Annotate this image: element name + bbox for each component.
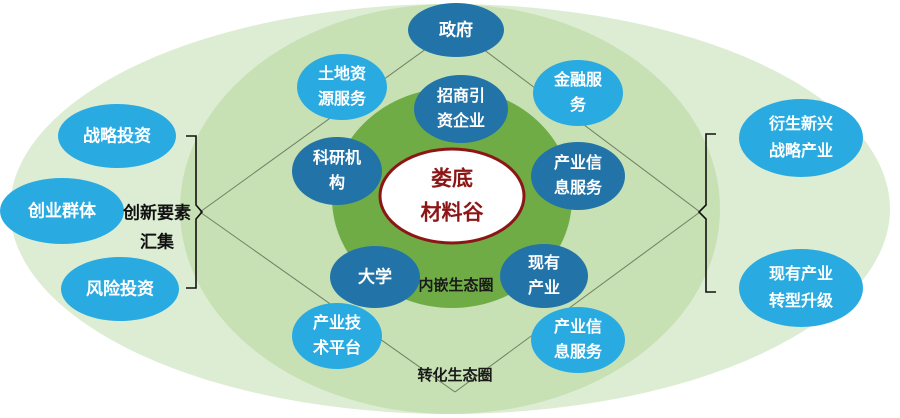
node-land-resource-label-2: 源服务 bbox=[318, 89, 367, 108]
node-existing-industry-ellipse bbox=[500, 244, 588, 308]
node-university[interactable]: 大学 bbox=[330, 246, 420, 308]
node-government-label: 政府 bbox=[439, 19, 473, 39]
core-ellipse bbox=[380, 149, 524, 243]
transform-ring-label: 转化生态圈 bbox=[417, 366, 492, 384]
node-industry-upgrade-label-1: 现有产业 bbox=[769, 264, 833, 283]
node-venture-capital-label: 风险投资 bbox=[86, 278, 154, 298]
core-node[interactable]: 娄底 材料谷 bbox=[380, 149, 524, 243]
node-government[interactable]: 政府 bbox=[408, 3, 504, 57]
core-label-line1: 娄底 bbox=[431, 167, 473, 191]
node-university-label: 大学 bbox=[358, 266, 392, 286]
node-investment-enterprise-ellipse bbox=[414, 75, 508, 143]
node-industry-info-bottom-label-1: 产业信 bbox=[554, 317, 602, 336]
node-financial-service-label-1: 金融服 bbox=[553, 70, 603, 89]
node-derived-strategic-industry-label-1: 衍生新兴 bbox=[768, 114, 833, 133]
node-industry-info-bottom-ellipse bbox=[531, 307, 625, 373]
node-derived-strategic-industry-label-2: 战略产业 bbox=[769, 141, 833, 160]
node-tech-platform-ellipse bbox=[292, 303, 382, 369]
node-venture-capital[interactable]: 风险投资 bbox=[61, 257, 179, 321]
node-research-institute-label-2: 构 bbox=[329, 173, 345, 192]
node-entrepreneur-group-label: 创业群体 bbox=[27, 200, 97, 220]
node-derived-strategic-industry[interactable]: 衍生新兴 战略产业 bbox=[739, 99, 863, 177]
node-financial-service[interactable]: 金融服 务 bbox=[533, 60, 623, 126]
node-investment-enterprise[interactable]: 招商引 资企业 bbox=[414, 75, 508, 143]
node-tech-platform-label-2: 术平台 bbox=[312, 338, 361, 357]
node-industry-upgrade-label-2: 转型升级 bbox=[769, 291, 834, 310]
node-existing-industry-label-1: 现有 bbox=[528, 253, 560, 272]
node-existing-industry[interactable]: 现有 产业 bbox=[500, 244, 588, 308]
node-financial-service-label-2: 务 bbox=[570, 95, 587, 114]
node-investment-enterprise-label-2: 资企业 bbox=[437, 111, 485, 130]
node-research-institute[interactable]: 科研机 构 bbox=[292, 137, 382, 205]
node-strategic-investment-label: 战略投资 bbox=[83, 125, 151, 145]
node-land-resource[interactable]: 土地资 源服务 bbox=[297, 54, 387, 120]
node-land-resource-label-1: 土地资 bbox=[318, 64, 366, 83]
node-entrepreneur-group[interactable]: 创业群体 bbox=[0, 178, 124, 244]
node-industry-upgrade[interactable]: 现有产业 转型升级 bbox=[739, 249, 863, 327]
node-tech-platform[interactable]: 产业技 术平台 bbox=[292, 303, 382, 369]
node-existing-industry-label-2: 产业 bbox=[528, 278, 560, 297]
node-research-institute-ellipse bbox=[292, 137, 382, 205]
inner-ring-label: 内嵌生态圈 bbox=[418, 276, 493, 294]
node-research-institute-label-1: 科研机 bbox=[313, 148, 361, 167]
node-land-resource-ellipse bbox=[297, 54, 387, 120]
node-tech-platform-label-1: 产业技 bbox=[313, 313, 362, 332]
node-industry-upgrade-ellipse bbox=[739, 249, 863, 327]
node-strategic-investment[interactable]: 战略投资 bbox=[58, 104, 176, 168]
node-investment-enterprise-label-1: 招商引 bbox=[437, 86, 485, 105]
ecosystem-diagram: 内嵌生态圈 转化生态圈 娄底 材料谷 政府 土地资 源服务 金融服 务 bbox=[0, 0, 900, 418]
node-derived-strategic-industry-ellipse bbox=[739, 99, 863, 177]
left-group-label-line2: 汇集 bbox=[140, 231, 175, 251]
diagram-canvas: 内嵌生态圈 转化生态圈 娄底 材料谷 政府 土地资 源服务 金融服 务 bbox=[0, 0, 900, 418]
core-label-line2: 材料谷 bbox=[421, 201, 485, 225]
node-industry-info-right-label-1: 产业信 bbox=[554, 153, 602, 172]
node-financial-service-ellipse bbox=[533, 60, 623, 126]
node-industry-info-right-ellipse bbox=[531, 142, 625, 210]
node-industry-info-bottom[interactable]: 产业信 息服务 bbox=[531, 307, 625, 373]
node-industry-info-right-label-2: 息服务 bbox=[554, 178, 603, 197]
left-group-label-line1: 创新要素 bbox=[122, 202, 191, 222]
node-industry-info-bottom-label-2: 息服务 bbox=[554, 342, 603, 361]
node-industry-info-right[interactable]: 产业信 息服务 bbox=[531, 142, 625, 210]
